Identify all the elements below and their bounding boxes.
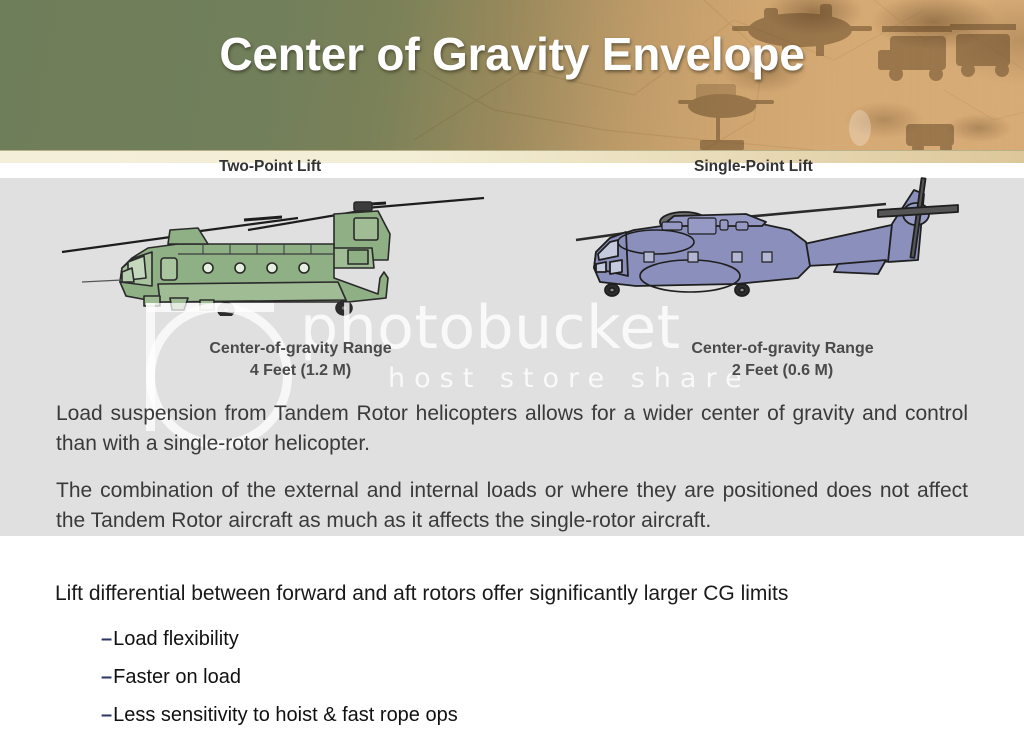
lift-label-two-point: Two-Point Lift <box>219 158 321 176</box>
dash-marker-icon: – <box>101 666 112 688</box>
tandem-rotor-chinook-illustration <box>48 186 488 316</box>
cg-caption-left-line2: 4 Feet (1.2 M) <box>118 360 483 382</box>
cg-range-caption-left: Center-of-gravity Range 4 Feet (1.2 M) <box>118 338 483 381</box>
list-item: –Faster on load <box>101 658 981 696</box>
list-item: –Less sensitivity to hoist & fast rope o… <box>101 696 981 734</box>
landing-gear-wheels <box>218 301 352 316</box>
forward-sponson <box>144 296 160 306</box>
aft-sponson <box>170 298 188 310</box>
crew-door <box>161 258 177 280</box>
nose-probe <box>82 280 122 282</box>
jeep-silhouette <box>696 84 736 102</box>
slide-root: Center of Gravity Envelope Two-Point Lif… <box>0 0 1024 717</box>
lift-label-single-point: Single-Point Lift <box>694 158 813 176</box>
single-rotor-sea-stallion-illustration <box>566 172 966 317</box>
slide-header-banner: Center of Gravity Envelope <box>0 0 1024 150</box>
body-paragraph-2: The combination of the external and inte… <box>56 476 968 536</box>
dash-marker-icon: – <box>101 704 112 726</box>
sub-bullet-label: Faster on load <box>113 666 241 688</box>
list-item: –Load flexibility <box>101 620 981 658</box>
cg-caption-left-line1: Center-of-gravity Range <box>209 340 391 357</box>
cg-caption-right-line1: Center-of-gravity Range <box>691 340 873 357</box>
dash-marker-icon: – <box>101 628 112 650</box>
cg-caption-right-line2: 2 Feet (0.6 M) <box>600 360 965 382</box>
lifting-helicopter-silhouette <box>678 94 774 150</box>
header-cream-divider <box>0 150 1024 163</box>
bullet-heading: Lift differential between forward and af… <box>55 580 995 608</box>
page-title: Center of Gravity Envelope <box>0 27 1024 81</box>
lower-truck-silhouette <box>906 124 954 150</box>
sub-bullet-label: Load flexibility <box>113 628 239 650</box>
sub-bullet-label: Less sensitivity to hoist & fast rope op… <box>113 704 458 726</box>
cg-range-caption-right: Center-of-gravity Range 2 Feet (0.6 M) <box>600 338 965 381</box>
body-paragraph-1: Load suspension from Tandem Rotor helico… <box>56 399 968 459</box>
aft-rotor-hub <box>354 202 372 211</box>
